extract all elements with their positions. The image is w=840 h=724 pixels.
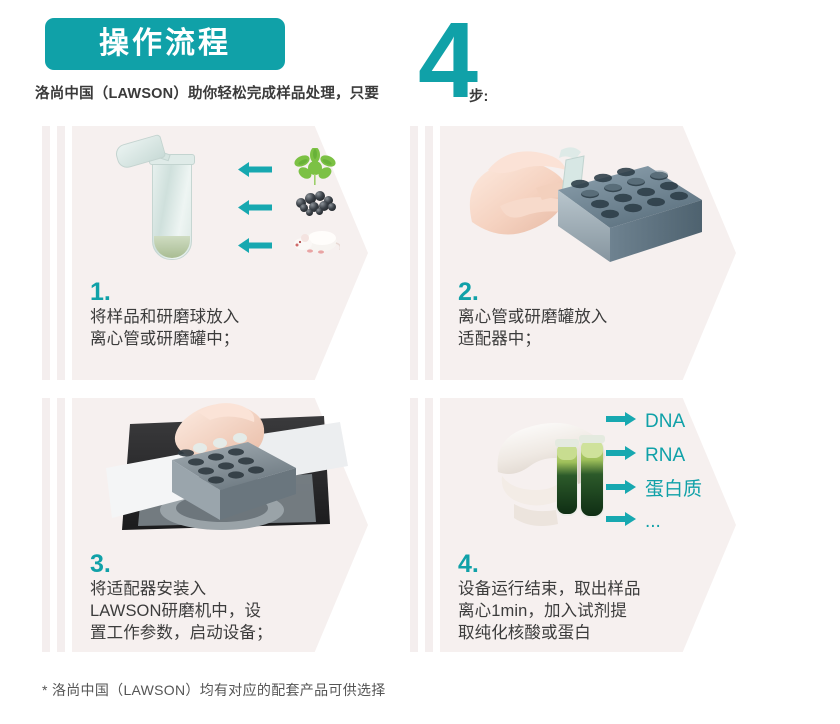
step-1-caption: 1. 将样品和研磨球放入 离心管或研磨罐中； xyxy=(90,279,350,350)
arrow-right-icon-dna xyxy=(606,412,636,431)
title-badge: 操作流程 xyxy=(45,18,285,70)
step-stripe-outer xyxy=(42,398,50,652)
arrow-left-icon-1 xyxy=(238,162,272,177)
step-1-illustration xyxy=(72,126,368,276)
step-stripe-outer xyxy=(410,398,418,652)
step-2-illustration xyxy=(440,126,736,276)
leaf-icon xyxy=(294,148,336,186)
output-label-more: ... xyxy=(645,512,661,531)
arrow-left-icon-3 xyxy=(238,238,272,253)
mouse-icon xyxy=(292,226,340,254)
step-1-description: 将样品和研磨球放入 离心管或研磨罐中； xyxy=(90,306,350,350)
step-4-illustration: DNA RNA 蛋白质 ... xyxy=(440,398,736,548)
step-3-caption: 3. 将适配器安装入 LAWSON研磨机中，设 置工作参数，启动设备； xyxy=(90,551,350,645)
output-label-protein: 蛋白质 xyxy=(645,480,702,499)
step-stripe-inner xyxy=(425,126,433,380)
step-card-4[interactable]: DNA RNA 蛋白质 ... 4. xyxy=(410,396,808,654)
mill-installation-photo xyxy=(72,398,368,548)
step-card-3[interactable]: 3. 将适配器安装入 LAWSON研磨机中，设 置工作参数，启动设备； xyxy=(42,396,440,654)
step-card-2[interactable]: 2. 离心管或研磨罐放入 适配器中； xyxy=(410,124,808,382)
step-2-description: 离心管或研磨罐放入 适配器中； xyxy=(458,306,718,350)
grinding-beads-icon xyxy=(294,189,338,215)
step-4-caption: 4. 设备运行结束，取出样品 离心1min，加入试剂提 取纯化核酸或蛋白 xyxy=(458,551,718,645)
page-header: 操作流程 4 洛尚中国（LAWSON）助你轻松完成样品处理，只要 步: xyxy=(0,0,840,120)
step-4-number: 4. xyxy=(458,551,718,577)
footer-note: * 洛尚中国（LAWSON）均有对应的配套产品可供选择 xyxy=(42,680,386,700)
step-card-1[interactable]: 1. 将样品和研磨球放入 离心管或研磨罐中； xyxy=(42,124,440,382)
arrow-left-icon-2 xyxy=(238,200,272,215)
subtitle-suffix-text: 步: xyxy=(469,85,488,106)
step-stripe-inner xyxy=(425,398,433,652)
output-row-dna: DNA xyxy=(606,412,685,431)
step-1-number: 1. xyxy=(90,279,350,305)
output-label-dna: DNA xyxy=(645,412,685,431)
step-stripe-inner xyxy=(57,398,65,652)
steps-grid: 1. 将样品和研磨球放入 离心管或研磨罐中； xyxy=(0,124,840,658)
arrow-right-icon-rna xyxy=(606,446,636,465)
output-row-protein: 蛋白质 xyxy=(606,480,702,499)
output-row-rna: RNA xyxy=(606,446,685,465)
centrifuge-tube-icon xyxy=(114,136,206,268)
step-stripe-outer xyxy=(42,126,50,380)
step-2-caption: 2. 离心管或研磨罐放入 适配器中； xyxy=(458,279,718,350)
step-3-illustration xyxy=(72,398,368,548)
step-3-description: 将适配器安装入 LAWSON研磨机中，设 置工作参数，启动设备； xyxy=(90,578,350,644)
step-2-number: 2. xyxy=(458,279,718,305)
step-3-number: 3. xyxy=(90,551,350,577)
output-row-more: ... xyxy=(606,512,661,531)
step-stripe-outer xyxy=(410,126,418,380)
step-stripe-inner xyxy=(57,126,65,380)
arrow-right-icon-more xyxy=(606,512,636,531)
page-title: 操作流程 xyxy=(99,29,231,59)
hand-adapter-photo xyxy=(440,126,736,276)
arrow-right-icon-protein xyxy=(606,480,636,499)
subtitle-text: 洛尚中国（LAWSON）助你轻松完成样品处理，只要 xyxy=(35,82,379,103)
output-label-rna: RNA xyxy=(645,446,685,465)
step-4-description: 设备运行结束，取出样品 离心1min，加入试剂提 取纯化核酸或蛋白 xyxy=(458,578,718,644)
step-count-number: 4 xyxy=(418,6,476,114)
